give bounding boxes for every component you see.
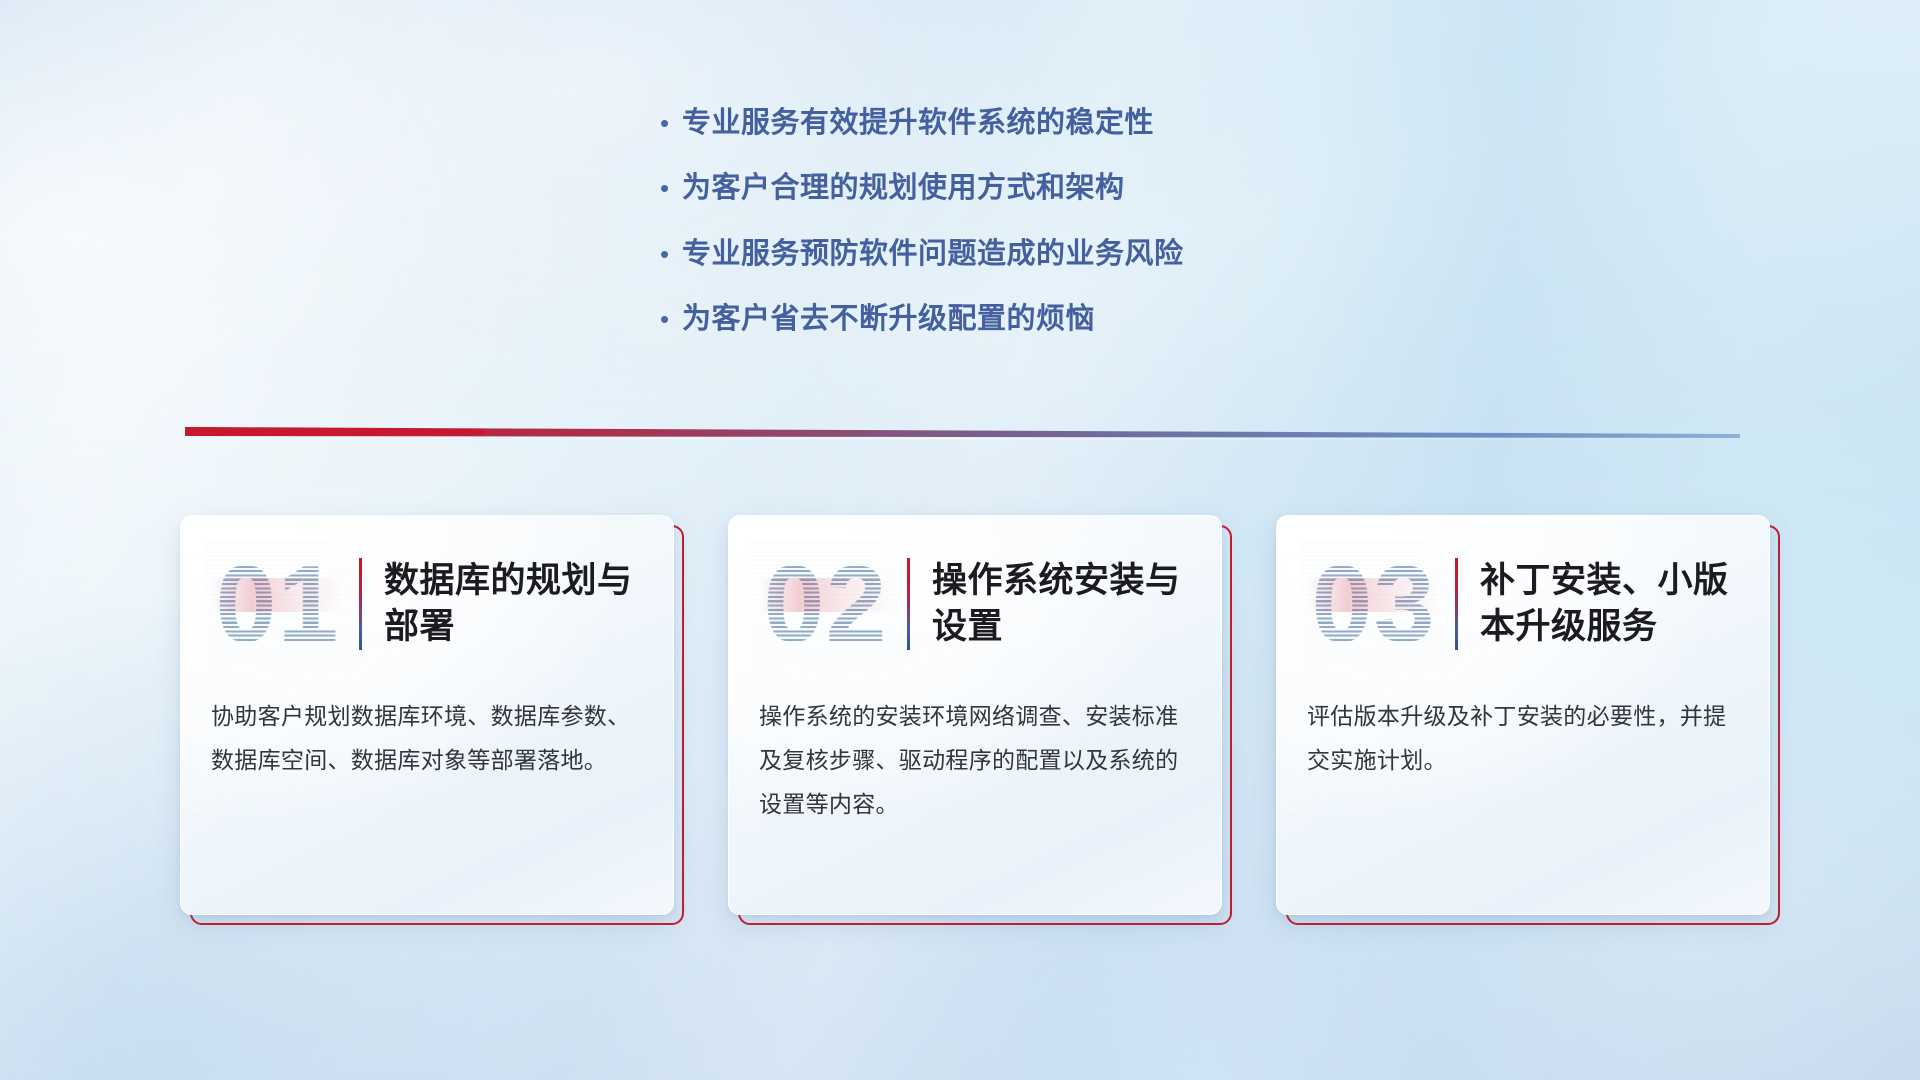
card-header: 01 数据库的规划与部署 (181, 516, 673, 692)
bullet-marker-icon: • (660, 175, 682, 201)
card-number-watermark: 03 (1299, 540, 1449, 668)
service-card-03[interactable]: 03 补丁安装、小版本升级服务 评估版本升级及补丁安装的必要性，并提交实施计划。 (1276, 515, 1770, 915)
card-header: 03 补丁安装、小版本升级服务 (1277, 516, 1769, 692)
slide-canvas: • 专业服务有效提升软件系统的稳定性 • 为客户合理的规划使用方式和架构 • 专… (0, 0, 1920, 1080)
service-card-02[interactable]: 02 操作系统安装与设置 操作系统的安装环境网络调查、安装标准及复核步骤、驱动程… (728, 515, 1222, 915)
bullet-marker-icon: • (660, 306, 682, 332)
card-slot: 01 数据库的规划与部署 协助客户规划数据库环境、数据库参数、数据库空间、数据库… (180, 515, 674, 915)
bullet-text: 专业服务预防软件问题造成的业务风险 (682, 236, 1184, 272)
title-accent-bar-icon (907, 558, 910, 650)
list-item: • 专业服务预防软件问题造成的业务风险 (660, 236, 1184, 272)
card-body-text: 评估版本升级及补丁安装的必要性，并提交实施计划。 (1277, 692, 1769, 782)
card-slot: 03 补丁安装、小版本升级服务 评估版本升级及补丁安装的必要性，并提交实施计划。 (1276, 515, 1770, 915)
card-slot: 02 操作系统安装与设置 操作系统的安装环境网络调查、安装标准及复核步骤、驱动程… (728, 515, 1222, 915)
card-body-text: 协助客户规划数据库环境、数据库参数、数据库空间、数据库对象等部署落地。 (181, 692, 673, 782)
card-title: 数据库的规划与部署 (384, 558, 673, 650)
bullet-list: • 专业服务有效提升软件系统的稳定性 • 为客户合理的规划使用方式和架构 • 专… (660, 105, 1184, 366)
list-item: • 为客户省去不断升级配置的烦恼 (660, 301, 1184, 337)
divider-wedge-icon (185, 425, 1740, 445)
bullet-text: 为客户合理的规划使用方式和架构 (682, 170, 1125, 206)
card-title: 补丁安装、小版本升级服务 (1480, 558, 1769, 650)
card-title: 操作系统安装与设置 (932, 558, 1221, 650)
card-number-watermark: 02 (751, 540, 901, 668)
title-accent-bar-icon (359, 558, 362, 650)
section-divider (185, 425, 1740, 445)
title-accent-bar-icon (1455, 558, 1458, 650)
bullet-text: 为客户省去不断升级配置的烦恼 (682, 301, 1095, 337)
card-row: 01 数据库的规划与部署 协助客户规划数据库环境、数据库参数、数据库空间、数据库… (180, 515, 1780, 925)
list-item: • 专业服务有效提升软件系统的稳定性 (660, 105, 1184, 141)
card-header: 02 操作系统安装与设置 (729, 516, 1221, 692)
list-item: • 为客户合理的规划使用方式和架构 (660, 170, 1184, 206)
card-number-watermark: 01 (203, 540, 353, 668)
bullet-text: 专业服务有效提升软件系统的稳定性 (682, 105, 1154, 141)
bullet-marker-icon: • (660, 241, 682, 267)
card-body-text: 操作系统的安装环境网络调查、安装标准及复核步骤、驱动程序的配置以及系统的设置等内… (729, 692, 1221, 826)
service-card-01[interactable]: 01 数据库的规划与部署 协助客户规划数据库环境、数据库参数、数据库空间、数据库… (180, 515, 674, 915)
bullet-marker-icon: • (660, 110, 682, 136)
